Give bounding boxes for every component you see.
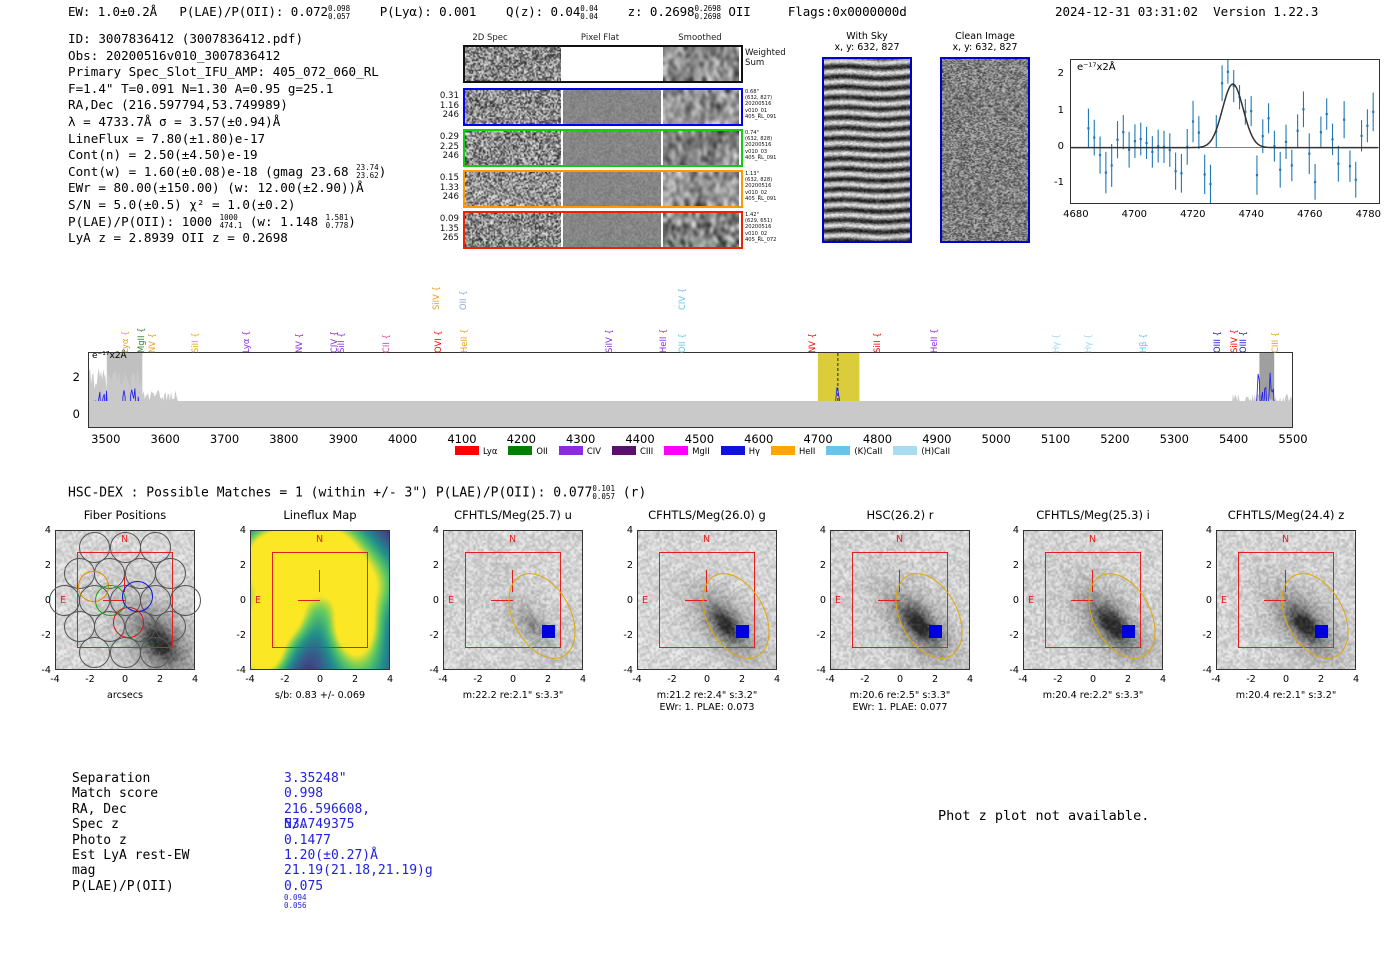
cutout-caption-line1: s/b: 0.83 +/- 0.069 <box>210 690 430 702</box>
fiber-circle-17 <box>110 637 141 668</box>
cutout-ytick: -2 <box>423 630 439 641</box>
full-spectrum-line-label-12: OII { <box>458 276 468 310</box>
table-value-0: 3.35248" <box>284 771 347 786</box>
hsc-text-a: HSC-DEX : Possible Matches = 1 (within +… <box>68 486 592 501</box>
full-spectrum-line-label-21: Hγ { <box>1083 313 1093 353</box>
spec2d-col-title-0: 2D Spec <box>450 33 530 43</box>
legend-item-1: OII <box>508 446 548 456</box>
cutout-ytick: 0 <box>1003 595 1019 606</box>
cutout-caption-line2: EWr: 1. PLAE: 0.073 <box>597 702 817 714</box>
cutout-ytick: 2 <box>810 560 826 571</box>
cutout-ytick: 4 <box>810 525 826 536</box>
cutout-crosshair-h-1 <box>298 600 320 601</box>
legend-item-8: (H)CaII <box>893 446 950 456</box>
spec2d-weighted-sum-label: WeightedSum <box>745 49 786 68</box>
cutout-xtick: 2 <box>150 674 170 685</box>
zoom-ytick: 1 <box>1040 105 1064 116</box>
header-right-meta: 2024-12-31 03:31:02 Version 1.22.3 <box>1055 4 1318 19</box>
info-line-3: F=1.4" T=0.091 N=1.30 A=0.95 g=25.1 <box>68 81 386 98</box>
full-spectrum-line-label-17: NV { <box>807 313 817 353</box>
zoom-spectrum-svg <box>1071 60 1379 203</box>
table-value-3: N/A <box>284 817 307 832</box>
cutout-ytick: -4 <box>617 665 633 676</box>
cutout-xtick: -2 <box>1241 674 1261 685</box>
cutout-caption-line1: arcsecs <box>15 690 235 702</box>
full-spectrum-line-label-15: CIV { <box>677 276 687 310</box>
cutout-xtick: 0 <box>697 674 717 685</box>
spec2d-left-label: 246 <box>423 193 459 203</box>
cutout-title-3: CFHTLS/Meg(26.0) g <box>607 508 807 522</box>
spec2d-row-left-labels-1: 0.292.25246 <box>423 133 459 162</box>
cutout-title-2: CFHTLS/Meg(25.7) u <box>413 508 613 522</box>
spec2d-cell-2dspec <box>465 213 561 247</box>
header-timestamp: 2024-12-31 03:31:02 <box>1055 4 1198 19</box>
cutout-title-4: HSC(26.2) r <box>800 508 1000 522</box>
cutout-xtick: 0 <box>1083 674 1103 685</box>
header-z-species: OII <box>728 4 750 19</box>
full-spectrum-xtick: 3800 <box>254 432 314 446</box>
cutout-ytick: -4 <box>230 665 246 676</box>
spec2d-left-label: 246 <box>423 152 459 162</box>
spec2d-right-label: 405_RL_072 <box>745 237 805 243</box>
info-line-9: EWr = 80.00(±150.00) (w: 12.00(±2.90))Å <box>68 180 386 197</box>
full-spectrum-noise-band <box>89 401 1292 427</box>
cutout-ytick: -2 <box>1003 630 1019 641</box>
cutout-xtick: 4 <box>185 674 205 685</box>
cutout-caption-4: m:20.6 re:2.5" s:3.3"EWr: 1. PLAE: 0.077 <box>790 690 1010 714</box>
header-z-value: 0.2698 <box>650 4 695 19</box>
cutout-ytick: 0 <box>1196 595 1212 606</box>
zoom-xtick: 4740 <box>1229 209 1273 220</box>
sky-panel-title: With Sky <box>802 31 932 42</box>
sky-panel-coords: x, y: 632, 827 <box>920 42 1050 53</box>
full-spectrum-xtick: 5100 <box>1026 432 1086 446</box>
cutout-ytick: -4 <box>810 665 826 676</box>
header-flags: Flags:0x0000000d <box>788 4 907 19</box>
spec2d-cell-pixelflat <box>563 172 661 206</box>
full-spectrum-line-label-25: OIII { <box>1238 313 1248 353</box>
table-label-5: Est LyA rest-EW <box>72 848 272 863</box>
cutout-compass-n-6: N <box>1282 534 1289 545</box>
full-spectrum-line-label-16: HeII { <box>658 313 668 353</box>
header-qz-lo: 0.04 <box>580 13 598 21</box>
full-spectrum-line-label-23: OIII { <box>1212 313 1222 353</box>
spec2d-row-left-labels-3: 0.091.35265 <box>423 215 459 244</box>
legend-item-7: (K)CaII <box>826 446 882 456</box>
full-spectrum-line-label-10: SiIV { <box>431 276 441 310</box>
ciii-swatch <box>612 446 636 455</box>
legend-item-5: Hγ <box>721 446 760 456</box>
spec2d-right-label: 405_RL_091 <box>745 155 805 161</box>
spec2d-row-weighted-sum <box>463 45 743 83</box>
cutout-caption-2: m:22.2 re:2.1" s:3.3" <box>403 690 623 702</box>
header-plae-value: 0.072 <box>291 4 328 19</box>
header-z-label: z: <box>628 4 643 19</box>
legend-label: Lyα <box>483 446 497 456</box>
spec2d-montage: 2D SpecPixel FlatSmoothedWeightedSum0.31… <box>423 33 753 248</box>
full-spectrum-line-label-8: CII { <box>381 313 391 353</box>
spec2d-cell-pixelflat <box>563 90 661 124</box>
spec2d-cell-2dspec <box>465 131 561 165</box>
cutout-ytick: 2 <box>35 560 51 571</box>
table-label-3: Spec z <box>72 817 272 832</box>
spec2d-cell-smoothed <box>663 172 739 206</box>
cutout-xtick: 0 <box>115 674 135 685</box>
info-line-4: RA,Dec (216.597794,53.749989) <box>68 97 386 114</box>
cutout-xtick: 2 <box>925 674 945 685</box>
full-spectrum-line-label-0: Lyα { <box>120 313 130 353</box>
oii-swatch <box>508 446 532 455</box>
legend-label: Hγ <box>749 446 760 456</box>
cutout-compass-n-1: N <box>316 534 323 545</box>
cutout-compass-n-4: N <box>896 534 903 545</box>
info-line-6: LineFlux = 7.80(±1.80)e-17 <box>68 131 386 148</box>
spec2d-row-right-labels-2: 1.13"(632, 828)20200516v010_02405_RL_091 <box>745 171 805 202</box>
zoom-ytick: 0 <box>1040 141 1064 152</box>
cutout-xtick: 2 <box>732 674 752 685</box>
table-value-4: 0.1477 <box>284 833 331 848</box>
full-spectrum-line-label-9: OVI { <box>433 313 443 353</box>
spec2d-cell-smoothed <box>663 131 739 165</box>
plae-w-lo: 0.778 <box>326 222 349 230</box>
zoom-ytick: 2 <box>1040 68 1064 79</box>
cutout-xtick: 2 <box>345 674 365 685</box>
spec2d-cell-smoothed <box>663 90 739 124</box>
civ-swatch <box>559 446 583 455</box>
spec2d-row-1 <box>463 129 743 167</box>
sky-panel-title: Clean Image <box>920 31 1050 42</box>
header-plae-lo: 0.057 <box>328 13 350 21</box>
table-label-4: Photo z <box>72 833 272 848</box>
zoom-spectrum-chart: e⁻¹⁷x2Å -1012468047004720474047604780 <box>1040 55 1385 230</box>
legend-label: (K)CaII <box>854 446 882 456</box>
table-label-2: RA, Dec <box>72 802 272 817</box>
hcaii-swatch <box>893 446 917 455</box>
cutout-target-marker-5 <box>1122 625 1135 638</box>
cutout-xtick: 4 <box>767 674 787 685</box>
info-line-5: λ = 4733.7Å σ = 3.57(±0.94)Å <box>68 114 386 131</box>
spec2d-cell-2dspec <box>465 47 561 81</box>
info-line-10: S/N = 5.0(±0.5) χ² = 1.0(±0.2) <box>68 197 386 214</box>
zoom-xtick: 4760 <box>1288 209 1332 220</box>
table-value-7: 0.075 0.0940.056 <box>284 879 323 910</box>
photoz-message: Phot z plot not available. <box>938 808 1149 824</box>
cutout-compass-e-6: E <box>1221 595 1227 606</box>
cutout-xtick: 4 <box>573 674 593 685</box>
cutout-ytick: -4 <box>1003 665 1019 676</box>
cutout-compass-n-3: N <box>703 534 710 545</box>
table-value-1: 0.998 <box>284 786 323 801</box>
cutout-ytick: 0 <box>423 595 439 606</box>
cutout-xtick: -2 <box>662 674 682 685</box>
spec2d-cell-pixelflat <box>563 131 661 165</box>
cutout-xtick: 2 <box>1311 674 1331 685</box>
cutout-caption-line1: m:21.2 re:2.4" s:3.2" <box>597 690 817 702</box>
full-spectrum-line-label-14: OII { <box>677 313 687 353</box>
cutout-compass-e-2: E <box>448 595 454 606</box>
cutout-ytick: -4 <box>1196 665 1212 676</box>
spec2d-row-left-labels-0: 0.311.16246 <box>423 92 459 121</box>
info-line-7: Cont(n) = 2.50(±4.50)e-19 <box>68 147 386 164</box>
cutout-xtick: 4 <box>380 674 400 685</box>
legend-item-0: Lyα <box>455 446 497 456</box>
sky-panel-caption-1: Clean Imagex, y: 632, 827 <box>920 31 1050 53</box>
spec2d-col-title-2: Smoothed <box>660 33 740 43</box>
header-plya: P(Lyα): 0.001 <box>380 4 477 19</box>
cutout-ref-box-1 <box>272 552 368 648</box>
full-spectrum-xtick: 3700 <box>195 432 255 446</box>
full-spectrum-ytick: 2 <box>62 370 80 384</box>
full-spectrum-xtick: 5200 <box>1085 432 1145 446</box>
cutout-ytick: -2 <box>35 630 51 641</box>
cutout-ytick: 0 <box>35 595 51 606</box>
plae-lo: 474.1 <box>220 222 243 230</box>
mgii-swatch <box>664 446 688 455</box>
cutout-xtick: -2 <box>855 674 875 685</box>
cutout-caption-6: m:20.4 re:2.1" s:3.2" <box>1176 690 1396 702</box>
legend-label: CIII <box>640 446 653 456</box>
weighted-sum-text: Sum <box>745 59 786 69</box>
cutout-ytick: 4 <box>35 525 51 536</box>
cutout-ytick: 2 <box>1003 560 1019 571</box>
cutout-target-marker-3 <box>736 625 749 638</box>
cutout-xtick: 4 <box>960 674 980 685</box>
full-spectrum-xtick: 4000 <box>373 432 433 446</box>
plae-w-range: 1.5810.778 <box>326 214 349 230</box>
cutout-xtick: 0 <box>890 674 910 685</box>
cutout-compass-e-4: E <box>835 595 841 606</box>
cutout-xtick: -2 <box>80 674 100 685</box>
cutout-xtick: -2 <box>275 674 295 685</box>
full-spectrum-xtick: 5300 <box>1144 432 1204 446</box>
cutout-xtick: 0 <box>310 674 330 685</box>
spec2d-row-right-labels-3: 1.42"(629, 651)20200516v010_02405_RL_072 <box>745 212 805 243</box>
header-qz-value: 0.04 <box>551 4 581 19</box>
cutout-xtick: -2 <box>1048 674 1068 685</box>
cutout-xtick: 4 <box>1153 674 1173 685</box>
full-spectrum-line-label-18: SiII { <box>872 313 882 353</box>
cutout-caption-line1: m:22.2 re:2.1" s:3.3" <box>403 690 623 702</box>
info-line-1: Obs: 20200516v010_3007836412 <box>68 48 386 65</box>
spec2d-cell-pixelflat <box>563 213 661 247</box>
zoom-xtick: 4720 <box>1171 209 1215 220</box>
cutout-title-1: Lineflux Map <box>220 508 420 522</box>
spec2d-cell-2dspec <box>465 90 561 124</box>
table-plae-range: 0.0940.056 <box>284 894 307 910</box>
kcaii-swatch <box>826 446 850 455</box>
cutout-compass-n-2: N <box>509 534 516 545</box>
full-spectrum-line-label-26: CIII { <box>1270 313 1280 353</box>
zoom-xtick: 4780 <box>1346 209 1390 220</box>
legend-label: OII <box>536 446 548 456</box>
spec2d-row-right-labels-0: 0.68"(632, 827)20200516v010_01405_RL_091 <box>745 89 805 120</box>
zoom-ytick: -1 <box>1040 177 1064 188</box>
zoom-xtick: 4700 <box>1112 209 1156 220</box>
cutout-ytick: -2 <box>230 630 246 641</box>
cutout-target-marker-6 <box>1315 625 1328 638</box>
full-spectrum-xtick: 4700 <box>788 432 848 446</box>
table-label-7: P(LAE)/P(OII) <box>72 879 272 894</box>
full-spectrum-xtick: 4400 <box>610 432 670 446</box>
cutout-caption-5: m:20.4 re:2.2" s:3.3" <box>983 690 1203 702</box>
full-spectrum-line-label-22: Hβ { <box>1138 313 1148 353</box>
cutout-caption-0: arcsecs <box>15 690 235 702</box>
spec2d-left-label: 246 <box>423 111 459 121</box>
full-spectrum-line-label-19: HeII { <box>929 313 939 353</box>
legend-label: HeII <box>799 446 815 456</box>
legend-item-6: HeII <box>771 446 815 456</box>
spec2d-left-label: 265 <box>423 234 459 244</box>
cutout-xtick: 2 <box>538 674 558 685</box>
header-z-lo: 0.2698 <box>694 13 721 21</box>
hγ-swatch <box>721 446 745 455</box>
cutout-xtick: 2 <box>1118 674 1138 685</box>
spec2d-col-title-1: Pixel Flat <box>560 33 640 43</box>
legend-label: CIV <box>587 446 601 456</box>
cutout-ytick: 4 <box>617 525 633 536</box>
cutout-ytick: 0 <box>230 595 246 606</box>
spec2d-cell-smoothed <box>663 47 739 81</box>
plae-range: 1000474.1 <box>220 214 243 230</box>
legend-item-3: CIII <box>612 446 653 456</box>
cutout-ytick: 4 <box>1196 525 1212 536</box>
cutout-xtick: 0 <box>1276 674 1296 685</box>
spec2d-right-label: 405_RL_091 <box>745 114 805 120</box>
zoom-spectrum-frame: e⁻¹⁷x2Å <box>1070 59 1380 204</box>
hsc-text-b: (r) <box>623 486 646 501</box>
full-spectrum-xtick: 3600 <box>135 432 195 446</box>
spec2d-row-3 <box>463 211 743 249</box>
cutout-compass-e-1: E <box>255 595 261 606</box>
legend-label: (H)CaII <box>921 446 950 456</box>
sky-panel-image-1 <box>940 57 1030 243</box>
table-plae-lo: 0.056 <box>284 902 307 910</box>
header-version: Version 1.22.3 <box>1213 4 1318 19</box>
cutout-target-marker-2 <box>542 625 555 638</box>
full-spectrum-xtick: 3900 <box>313 432 373 446</box>
gmag-lo: 23.62 <box>356 172 379 180</box>
cutout-caption-line1: m:20.6 re:2.5" s:3.3" <box>790 690 1010 702</box>
full-spectrum-xtick: 3500 <box>76 432 136 446</box>
cutout-ytick: 0 <box>810 595 826 606</box>
full-spectrum-xtick: 4800 <box>847 432 907 446</box>
info-line-12: LyA z = 2.8939 OII z = 0.2698 <box>68 230 386 247</box>
full-spectrum-line-label-3: SiII { <box>190 313 200 353</box>
cutout-title-0: Fiber Positions <box>25 508 225 522</box>
full-spectrum-legend: LyαOIICIVCIIIMgIIHγHeII(K)CaII(H)CaII <box>455 446 961 456</box>
spec2d-row-0 <box>463 88 743 126</box>
cutout-compass-n-5: N <box>1089 534 1096 545</box>
gmag-range: 23.7423.62 <box>356 164 379 180</box>
cutout-ytick: -2 <box>617 630 633 641</box>
cutout-caption-line1: m:20.4 re:2.1" s:3.2" <box>1176 690 1396 702</box>
info-line-2: Primary Spec_Slot_IFU_AMP: 405_072_060_R… <box>68 64 386 81</box>
fiber-highlight-3 <box>113 607 144 638</box>
cutout-caption-1: s/b: 0.83 +/- 0.069 <box>210 690 430 702</box>
heii-swatch <box>771 446 795 455</box>
full-spectrum-xtick: 4900 <box>907 432 967 446</box>
cutout-title-6: CFHTLS/Meg(24.4) z <box>1186 508 1386 522</box>
full-spectrum-line-label-11: HeII { <box>459 313 469 353</box>
zoom-xtick: 4680 <box>1054 209 1098 220</box>
cutout-ytick: -2 <box>1196 630 1212 641</box>
spec2d-cell-smoothed <box>663 213 739 247</box>
legend-label: MgII <box>692 446 709 456</box>
full-spectrum-xtick: 4100 <box>432 432 492 446</box>
cutout-ytick: 4 <box>423 525 439 536</box>
full-spectrum-xtick: 4200 <box>491 432 551 446</box>
cutout-target-marker-4 <box>929 625 942 638</box>
full-spectrum-xtick: 4300 <box>551 432 611 446</box>
full-spectrum-line-label-5: NV { <box>294 313 304 353</box>
full-spectrum-chart: e⁻¹⁷x2Å <box>88 352 1293 428</box>
cutout-ytick: 2 <box>617 560 633 571</box>
full-spectrum-xtick: 5400 <box>1204 432 1264 446</box>
spec2d-right-label: 405_RL_091 <box>745 196 805 202</box>
cutout-ytick: -4 <box>423 665 439 676</box>
sky-panel-image-0 <box>822 57 912 243</box>
spec2d-row-right-labels-1: 0.74"(632, 828)20200516v010_03405_RL_091 <box>745 130 805 161</box>
full-spectrum-line-label-2: NV { <box>147 313 157 353</box>
spec2d-cell-pixelflat <box>563 47 661 81</box>
cutout-caption-line2: EWr: 1. PLAE: 0.077 <box>790 702 1010 714</box>
table-value-5: 1.20(±0.27)Å <box>284 848 378 863</box>
full-spectrum-line-label-1: MgII { <box>136 313 146 353</box>
cutout-compass-e-3: E <box>642 595 648 606</box>
full-spectrum-line-label-20: Hγ { <box>1051 313 1061 353</box>
cutout-ytick: 2 <box>1196 560 1212 571</box>
full-spectrum-line-label-7: SiII { <box>336 313 346 353</box>
cutout-crosshair-v-1 <box>319 570 320 592</box>
cutout-xtick: -2 <box>468 674 488 685</box>
cutout-xtick: 4 <box>1346 674 1366 685</box>
full-spectrum-line-label-4: Lyα { <box>241 313 251 353</box>
cutout-compass-e-5: E <box>1028 595 1034 606</box>
full-spectrum-xtick: 4500 <box>669 432 729 446</box>
cutout-ytick: 4 <box>1003 525 1019 536</box>
legend-item-4: MgII <box>664 446 709 456</box>
hsc-plae-lo: 0.057 <box>592 493 615 501</box>
header-ew: EW: 1.0±0.2Å <box>68 4 157 19</box>
cutout-ytick: -4 <box>35 665 51 676</box>
cutout-caption-line1: m:20.4 re:2.2" s:3.3" <box>983 690 1203 702</box>
cutout-ytick: 0 <box>617 595 633 606</box>
spec2d-row-left-labels-2: 0.151.33246 <box>423 174 459 203</box>
full-spectrum-line-label-13: SiIV { <box>604 313 614 353</box>
table-value-6: 21.19(21.18,21.19)g <box>284 863 433 878</box>
cutout-ytick: 4 <box>230 525 246 536</box>
fiber-circle-18 <box>140 637 171 668</box>
info-line-0: ID: 3007836412 (3007836412.pdf) <box>68 31 386 48</box>
cutout-ytick: 2 <box>423 560 439 571</box>
sky-panel-coords: x, y: 632, 827 <box>802 42 932 53</box>
table-label-0: Separation <box>72 771 272 786</box>
table-label-6: mag <box>72 863 272 878</box>
sky-panel-caption-0: With Skyx, y: 632, 827 <box>802 31 932 53</box>
lyα-swatch <box>455 446 479 455</box>
hsc-dex-match-line: HSC-DEX : Possible Matches = 1 (within +… <box>68 485 646 501</box>
header-plae-label: P(LAE)/P(OII): <box>179 4 283 19</box>
cutout-ytick: -2 <box>810 630 826 641</box>
zoom-spectrum-unit-label: e⁻¹⁷x2Å <box>1077 62 1116 73</box>
header-summary-line: EW: 1.0±0.2Å P(LAE)/P(OII): 0.0720.0980.… <box>68 4 907 21</box>
table-label-1: Match score <box>72 786 272 801</box>
cutout-caption-3: m:21.2 re:2.4" s:3.2"EWr: 1. PLAE: 0.073 <box>597 690 817 714</box>
legend-item-2: CIV <box>559 446 601 456</box>
cutout-xtick: 0 <box>503 674 523 685</box>
spec2d-cell-2dspec <box>465 172 561 206</box>
source-info-block: ID: 3007836412 (3007836412.pdf)Obs: 2020… <box>68 31 386 247</box>
